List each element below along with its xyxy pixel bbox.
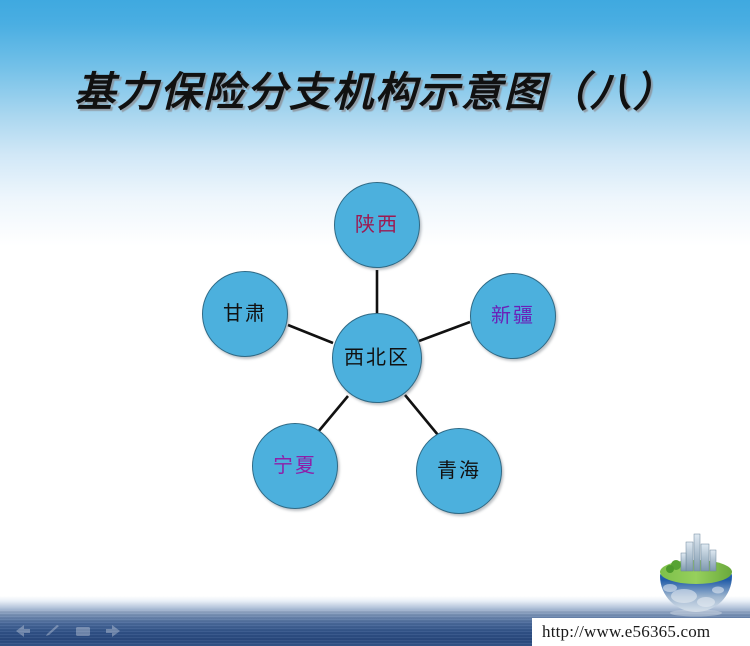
org-diagram: 西北区 陕西 新疆 青海 宁夏 甘肃 (180, 160, 580, 520)
diagram-node-label: 宁夏 (273, 456, 317, 476)
slideshow-nav-controls[interactable] (14, 620, 134, 642)
website-url-text: http://www.e56365.com (542, 622, 710, 642)
website-url-box: http://www.e56365.com (532, 618, 750, 646)
diagram-node-ningxia[interactable]: 宁夏 (252, 423, 338, 509)
diagram-node-label: 新疆 (491, 306, 535, 326)
slide-title: 基力保险分支机构示意图（八） (0, 58, 750, 118)
diagram-node-label: 陕西 (355, 215, 399, 235)
diagram-node-label: 青海 (437, 461, 481, 481)
presentation-slide: 基力保险分支机构示意图（八） 西北区 陕西 新疆 青海 宁夏 (0, 0, 750, 646)
diagram-node-label: 甘肃 (223, 304, 267, 324)
diagram-node-center[interactable]: 西北区 (332, 313, 422, 403)
diagram-node-xinjiang[interactable]: 新疆 (470, 273, 556, 359)
edge-center-to-qinghai (405, 395, 438, 435)
diagram-node-shaanxi[interactable]: 陕西 (334, 182, 420, 268)
edge-center-to-ningxia (318, 396, 348, 432)
city-buildings-icon (681, 534, 716, 571)
menu-icon[interactable] (74, 624, 92, 638)
pen-icon[interactable] (44, 624, 62, 638)
next-arrow-icon[interactable] (104, 624, 122, 638)
diagram-node-gansu[interactable]: 甘肃 (202, 271, 288, 357)
globe-reflection (670, 610, 722, 617)
edge-center-to-xinjiang (419, 322, 470, 341)
edge-center-to-gansu (288, 325, 333, 343)
diagram-node-qinghai[interactable]: 青海 (416, 428, 502, 514)
previous-arrow-icon[interactable] (14, 624, 32, 638)
diagram-node-label: 西北区 (344, 348, 410, 368)
globe-logo (648, 522, 744, 618)
